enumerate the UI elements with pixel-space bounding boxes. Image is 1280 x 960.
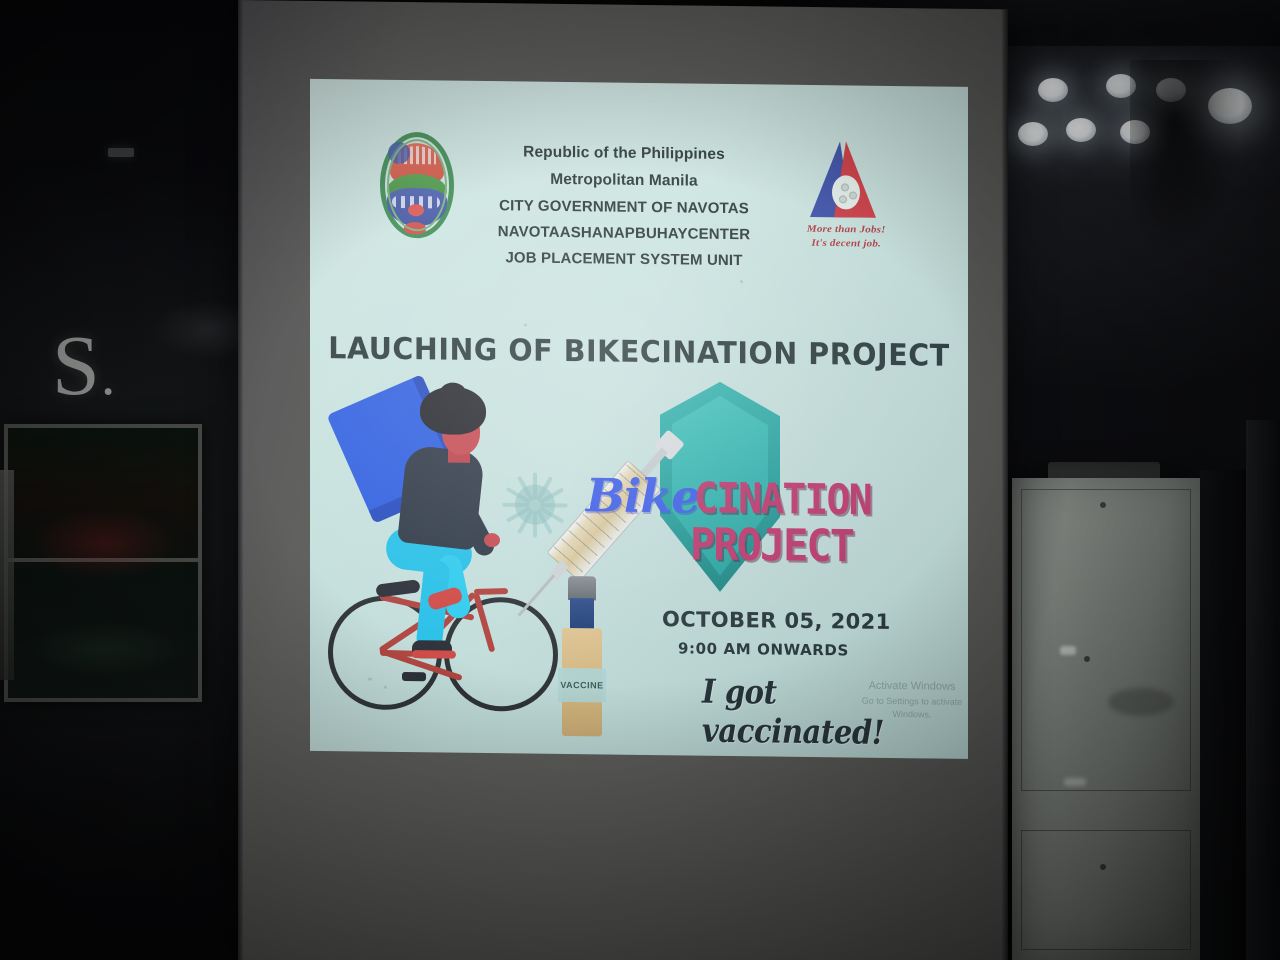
cabinet-drawer-panel xyxy=(1021,830,1191,950)
right-far-wall xyxy=(1246,420,1280,960)
ceiling-shadow xyxy=(1130,60,1240,250)
wall-fixture-light xyxy=(108,148,134,157)
panel-red-glow xyxy=(31,509,175,579)
rider-hair-bun xyxy=(440,382,466,402)
presentation-slide: Republic of the Philippines Metropolitan… xyxy=(310,79,968,759)
bicycle-pedal xyxy=(402,672,426,681)
bicycle-seat xyxy=(375,579,420,597)
vial-label-text: VACCINE xyxy=(560,680,603,691)
ceiling-beam xyxy=(1000,0,1280,46)
slide-header: Republic of the Philippines Metropolitan… xyxy=(310,127,968,281)
event-date: OCTOBER 05, 2021 xyxy=(662,607,891,634)
wall-letter-glyph: S xyxy=(52,317,101,413)
header-text-block: Republic of the Philippines Metropolitan… xyxy=(498,129,751,278)
vaccine-vial-icon: VACCINE xyxy=(556,576,608,741)
header-line-2: Metropolitan Manila xyxy=(498,170,751,191)
peso-tagline-1: More than Jobs! xyxy=(794,223,898,235)
wall-letter-s: S. xyxy=(52,315,116,415)
event-time: 9:00 AM ONWARDS xyxy=(678,639,891,660)
header-line-3: CITY GOVERNMENT OF NAVOTAS xyxy=(498,197,751,217)
bikecination-logo: Bike CINATION PROJECT xyxy=(586,460,916,576)
cabinet-smudge xyxy=(1108,688,1174,716)
rider-shoe-sole xyxy=(412,650,456,659)
header-line-4: NAVOTAASHANAPBUHAYCENTER xyxy=(498,223,751,243)
cabinet-door-panel xyxy=(1021,489,1191,791)
cabinet-unit xyxy=(1012,478,1200,960)
ceiling-light xyxy=(1038,78,1068,102)
cabinet-highlight xyxy=(1064,778,1086,786)
screen-right-edge xyxy=(1002,9,1008,960)
job-placement-triangle-logo-icon: More than Jobs! It's decent job. xyxy=(794,135,898,254)
logo-word-project: PROJECT xyxy=(690,518,853,571)
screen-left-edge xyxy=(238,0,243,960)
watermark-line-2: Go to Settings to activate Windows. xyxy=(856,694,968,722)
header-line-5: JOB PLACEMENT SYSTEM UNIT xyxy=(498,249,751,269)
peso-tagline-2: It's decent job. xyxy=(794,237,898,249)
logo-word-bike: Bike xyxy=(586,468,700,523)
cabinet-knob xyxy=(1100,502,1106,508)
event-details: OCTOBER 05, 2021 9:00 AM ONWARDS xyxy=(662,607,891,660)
logo-word-cination: CINATION xyxy=(694,474,871,524)
cabinet-highlight xyxy=(1060,646,1076,655)
room-scene: S. xyxy=(0,0,1280,960)
cabinet-knob xyxy=(1084,656,1090,662)
header-line-1: Republic of the Philippines xyxy=(498,143,751,164)
cabinet-side-shadow xyxy=(1200,470,1246,960)
projection-screen: Republic of the Philippines Metropolitan… xyxy=(238,0,1008,960)
wall-framed-panel xyxy=(4,424,202,702)
windows-activation-watermark: Activate Windows Go to Settings to activ… xyxy=(856,678,968,723)
ceiling-light xyxy=(1018,122,1048,146)
wall-letter-dot: . xyxy=(101,342,117,407)
panel-green-glow xyxy=(27,622,179,676)
navotas-city-seal-icon xyxy=(380,132,454,239)
ceiling-light xyxy=(1066,118,1096,142)
cabinet-knob xyxy=(1100,864,1106,870)
slide-title: LAUCHING OF BIKECINATION PROJECT xyxy=(326,331,951,374)
watermark-line-1: Activate Windows xyxy=(856,678,968,696)
wall-vertical-strip xyxy=(0,470,14,680)
